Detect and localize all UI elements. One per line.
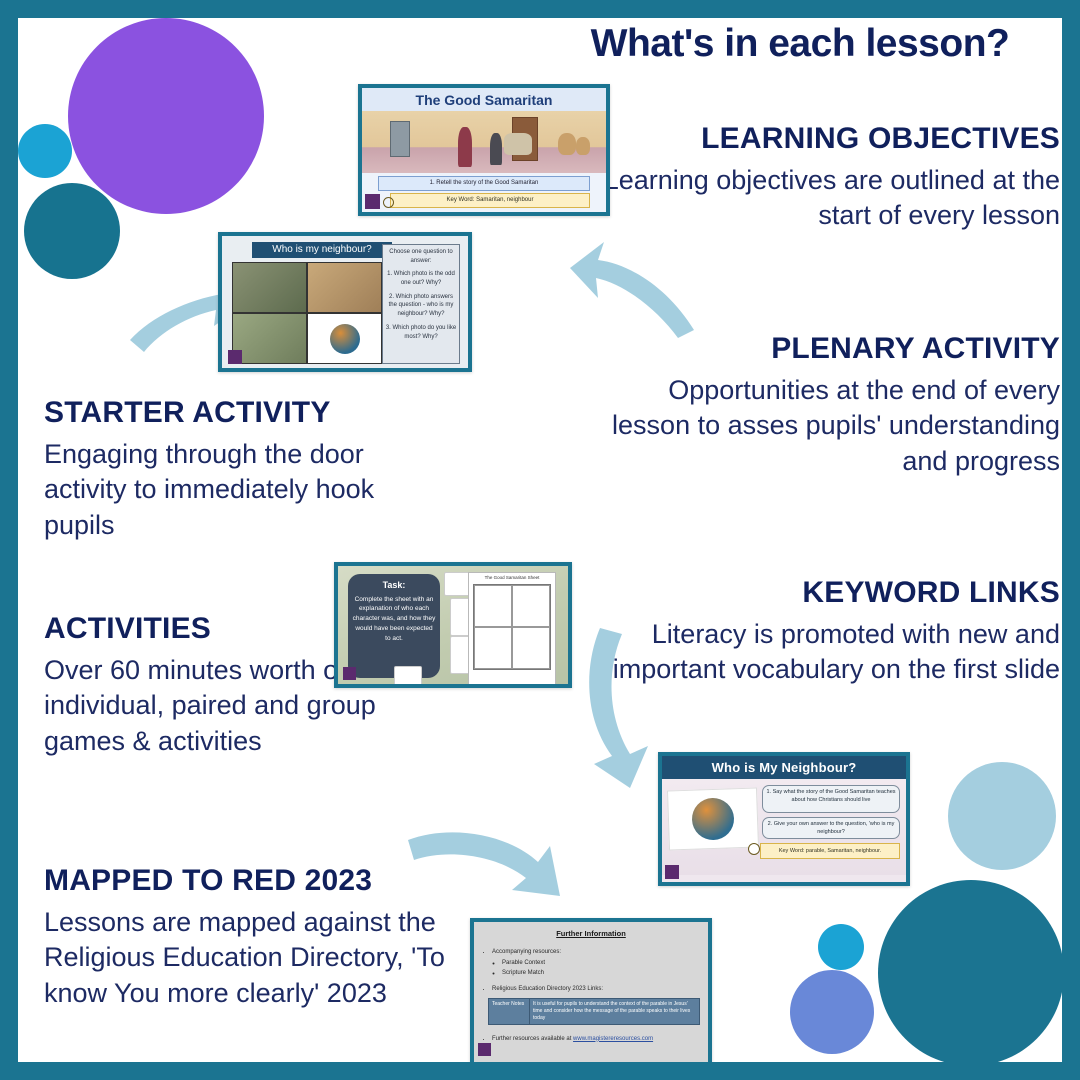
quadrant (474, 627, 512, 669)
slide-thumbnail-plenary-neighbour[interactable]: Who is My Neighbour? 1. Say what the sto… (658, 752, 910, 886)
publisher-logo (478, 1043, 491, 1056)
light-blue-circle-bottom-right (948, 762, 1056, 870)
cyan-circle-top-left (18, 124, 72, 178)
infographic-canvas: What's in each lesson? The Good Samarita… (0, 0, 1080, 1080)
slide-title: The Good Samaritan (362, 88, 606, 111)
arrow-to-learning-objectives-icon (552, 238, 698, 342)
section-plenary-activity: PLENARY ACTIVITY Opportunities at the en… (600, 332, 1060, 480)
quadrant (512, 585, 550, 627)
bullet-red-links: Religious Education Directory 2023 Links… (492, 985, 700, 995)
bullet-further-resources: Further resources available at www.magis… (492, 1035, 700, 1045)
teacher-notes-text: It is useful for pupils to understand th… (530, 999, 699, 1023)
section-keyword-links: KEYWORD LINKS Literacy is promoted with … (600, 576, 1060, 688)
photo-4 (308, 314, 381, 363)
photo-2 (308, 263, 381, 312)
section-heading: MAPPED TO RED 2023 (44, 864, 474, 899)
section-body: Learning objectives are outlined at the … (600, 163, 1060, 235)
periwinkle-circle-bottom-right (790, 970, 874, 1054)
question-item: 3. Which photo do you like most? Why? (385, 324, 457, 341)
slide-title: Further Information (482, 928, 700, 940)
publisher-logo (228, 350, 242, 364)
red-links-list: Religious Education Directory 2023 Links… (482, 985, 700, 995)
slide-thumbnail-task-activity[interactable]: Task: Complete the sheet with an explana… (334, 562, 572, 688)
magnifier-icon (383, 197, 394, 208)
further-resources-list: Further resources available at www.magis… (482, 1035, 700, 1045)
section-heading: PLENARY ACTIVITY (600, 332, 1060, 367)
slide-thumbnail-starter-neighbour[interactable]: Who is my neighbour? Choose one question… (218, 232, 472, 372)
section-body: Opportunities at the end of every lesson… (600, 373, 1060, 481)
section-learning-objectives: LEARNING OBJECTIVES Learning objectives … (600, 122, 1060, 234)
sub-resources-list: Parable Context Scripture Match (492, 959, 700, 979)
section-body: Engaging through the door activity to im… (44, 437, 444, 545)
globe-icon (691, 797, 734, 840)
purple-circle (68, 18, 264, 214)
question-panel: Choose one question to answer: 1. Which … (382, 244, 460, 364)
slide-keyword: Key Word: parable, Samaritan, neighbour. (760, 843, 900, 859)
further-resources-prefix: Further resources available at (492, 1036, 573, 1042)
section-starter-activity: STARTER ACTIVITY Engaging through the do… (44, 396, 444, 544)
sub-bullet-scripture-match: Scripture Match (502, 969, 700, 979)
page-title: What's in each lesson? (540, 22, 1060, 66)
question-prompt: Choose one question to answer: (385, 248, 457, 265)
section-heading: KEYWORD LINKS (600, 576, 1060, 611)
worksheet-quadrants (473, 584, 551, 670)
task-body: Complete the sheet with an explanation o… (353, 596, 436, 642)
slide-title: Who is my neighbour? (252, 242, 392, 258)
section-body: Literacy is promoted with new and import… (600, 617, 1060, 689)
slide-thumbnail-good-samaritan[interactable]: The Good Samaritan 1. Retell the story o… (358, 84, 610, 216)
slide-objective: 1. Retell the story of the Good Samarita… (378, 176, 590, 191)
slide-body: 1. Say what the story of the Good Samari… (662, 779, 906, 875)
publisher-logo (665, 865, 679, 879)
quadrant (474, 585, 512, 627)
publisher-logo (343, 667, 356, 680)
slide-illustration (362, 111, 606, 173)
magistere-resources-link[interactable]: www.magistereresources.com (573, 1036, 653, 1042)
resources-list: Accompanying resources: Parable Context … (482, 948, 700, 979)
task-panel: Task: Complete the sheet with an explana… (348, 574, 440, 678)
photo-3 (233, 314, 306, 363)
magnifier-icon (748, 843, 760, 855)
character-card (394, 666, 422, 688)
cyan-circle-bottom-right (818, 924, 864, 970)
publisher-logo (365, 194, 380, 209)
teacher-notes-box: Teacher Notes It is useful for pupils to… (488, 998, 700, 1024)
slide-title: Who is My Neighbour? (662, 756, 906, 779)
photo-grid (232, 262, 382, 364)
section-heading: LEARNING OBJECTIVES (600, 122, 1060, 157)
worksheet: The Good Samaritan Sheet (468, 572, 556, 686)
section-mapped-to-red: MAPPED TO RED 2023 Lessons are mapped ag… (44, 864, 474, 1012)
bullet-accompanying-resources: Accompanying resources: (492, 948, 700, 958)
globe-icon (330, 324, 360, 354)
question-item: 1. Which photo is the odd one out? Why? (385, 270, 457, 287)
section-heading: STARTER ACTIVITY (44, 396, 444, 431)
photo-1 (233, 263, 306, 312)
globe-photo-card (667, 787, 759, 850)
task-label: Task: (352, 579, 436, 593)
quadrant (512, 627, 550, 669)
worksheet-title: The Good Samaritan Sheet (469, 573, 555, 581)
slide-body: Further Information Accompanying resourc… (474, 922, 708, 1054)
section-body: Lessons are mapped against the Religious… (44, 905, 474, 1013)
slide-keyword: Key Word: Samaritan, neighbour (390, 193, 590, 208)
plenary-question-1: 1. Say what the story of the Good Samari… (762, 785, 900, 813)
teal-circle-top-left (24, 183, 120, 279)
teacher-notes-label: Teacher Notes (489, 999, 530, 1023)
slide-thumbnail-further-information[interactable]: Further Information Accompanying resourc… (470, 918, 712, 1066)
plenary-question-2: 2. Give your own answer to the question,… (762, 817, 900, 839)
teal-circle-bottom-right (878, 880, 1064, 1066)
question-item: 2. Which photo answers the question - wh… (385, 293, 457, 319)
sub-bullet-parable-context: Parable Context (502, 959, 700, 969)
